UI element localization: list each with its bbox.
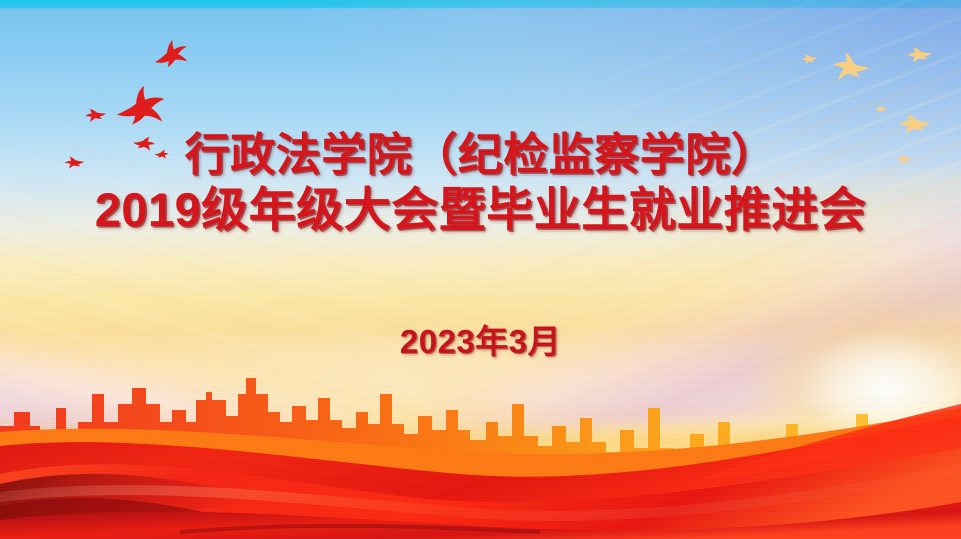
dove-red-2 (111, 83, 177, 135)
date-block: 2023年3月 (0, 315, 961, 363)
page-title: 行政法学院（纪检监察学院） 2019级年级大会暨毕业生就业推进会 (0, 131, 961, 235)
title-line-2: 2019级年级大会暨毕业生就业推进会 (0, 185, 961, 235)
dove-gold-1 (824, 49, 874, 88)
dove-gold-5 (873, 102, 888, 115)
title-slide: 行政法学院（纪检监察学院） 2019级年级大会暨毕业生就业推进会 2023年3月 (0, 0, 961, 539)
date-text: 2023年3月 (0, 315, 961, 363)
title-line-1: 行政法学院（纪检监察学院） (0, 131, 961, 179)
